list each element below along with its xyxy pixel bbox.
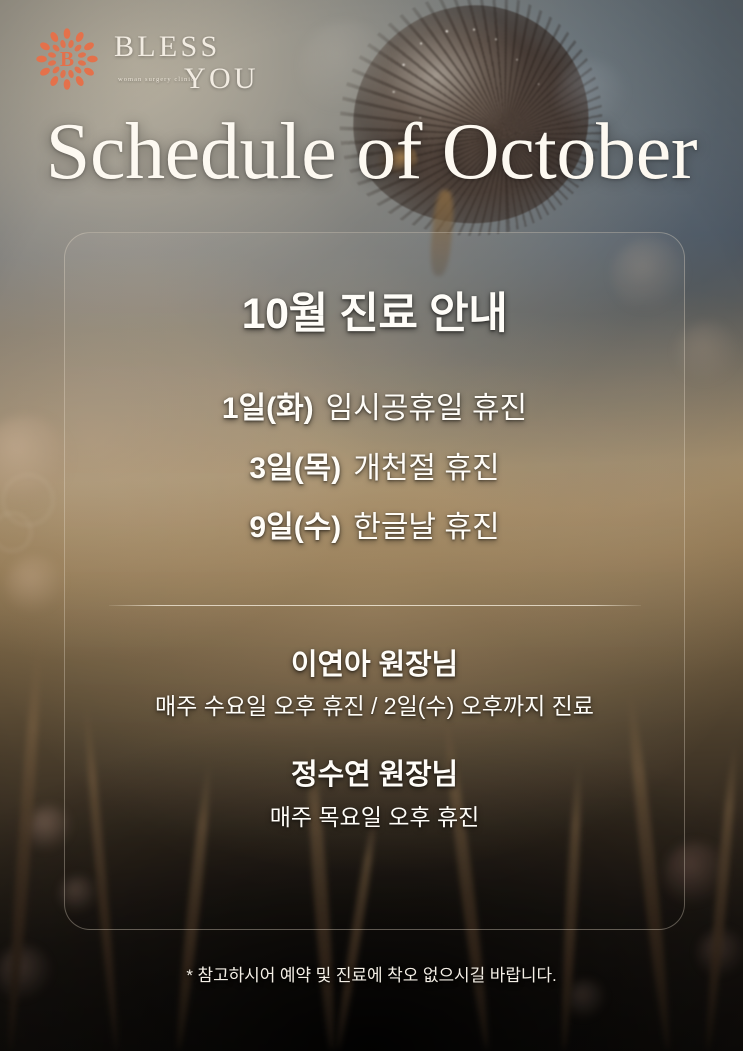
- brand-wordmark: BLESS woman surgery clinic YOU: [112, 28, 262, 90]
- holiday-date: 3일(목): [249, 452, 341, 485]
- poster-title: Schedule of October: [0, 112, 743, 192]
- vegetation-strand: [4, 636, 46, 1051]
- vegetation-strand: [702, 740, 740, 1051]
- bokeh-circle: [6, 556, 64, 614]
- holiday-item: 1일(화) 임시공휴일 휴진: [222, 393, 527, 425]
- holiday-event: 임시공휴일 휴진: [326, 392, 528, 425]
- holiday-date: 9일(수): [249, 511, 341, 544]
- doctor-note: 매주 수요일 오후 휴진 / 2일(수) 오후까지 진료: [155, 693, 594, 719]
- doctor-entry: 정수연 원장님 매주 목요일 오후 휴진: [270, 760, 480, 830]
- bokeh-circle: [2, 474, 54, 526]
- footnote: * 참고하시어 예약 및 진료에 착오 없으시길 바랍니다.: [0, 961, 743, 986]
- bokeh-circle: [0, 416, 68, 502]
- bokeh-circle: [0, 512, 32, 552]
- floral-wreath-b-monogram-icon: B: [36, 28, 98, 90]
- brand-name-line1: BLESS: [114, 32, 221, 62]
- holiday-item: 3일(목) 개천절 휴진: [222, 453, 527, 485]
- section-divider: [109, 605, 641, 606]
- doctor-note: 매주 목요일 오후 휴진: [270, 804, 480, 830]
- holiday-list: 1일(화) 임시공휴일 휴진 3일(목) 개천절 휴진 9일(수) 한글날 휴진: [222, 393, 527, 544]
- brand-header: B BLESS woman surgery clinic YOU: [36, 28, 262, 90]
- holiday-date: 1일(화): [222, 392, 314, 425]
- poster: B BLESS woman surgery clinic YOU Schedul…: [0, 0, 743, 1051]
- bokeh-circle: [676, 322, 738, 384]
- holiday-event: 개천절 휴진: [353, 452, 499, 485]
- doctor-name: 이연아 원장님: [291, 650, 458, 682]
- doctor-entry: 이연아 원장님 매주 수요일 오후 휴진 / 2일(수) 오후까지 진료: [155, 650, 594, 720]
- svg-text:B: B: [60, 47, 74, 71]
- brand-name-line2: YOU: [184, 64, 259, 94]
- schedule-card: 10월 진료 안내 1일(화) 임시공휴일 휴진 3일(목) 개천절 휴진 9일…: [64, 232, 685, 930]
- doctor-name: 정수연 원장님: [291, 760, 458, 792]
- card-heading: 10월 진료 안내: [242, 293, 508, 336]
- bokeh-circle: [566, 980, 606, 1020]
- holiday-item: 9일(수) 한글날 휴진: [222, 512, 527, 544]
- holiday-event: 한글날 휴진: [353, 511, 499, 544]
